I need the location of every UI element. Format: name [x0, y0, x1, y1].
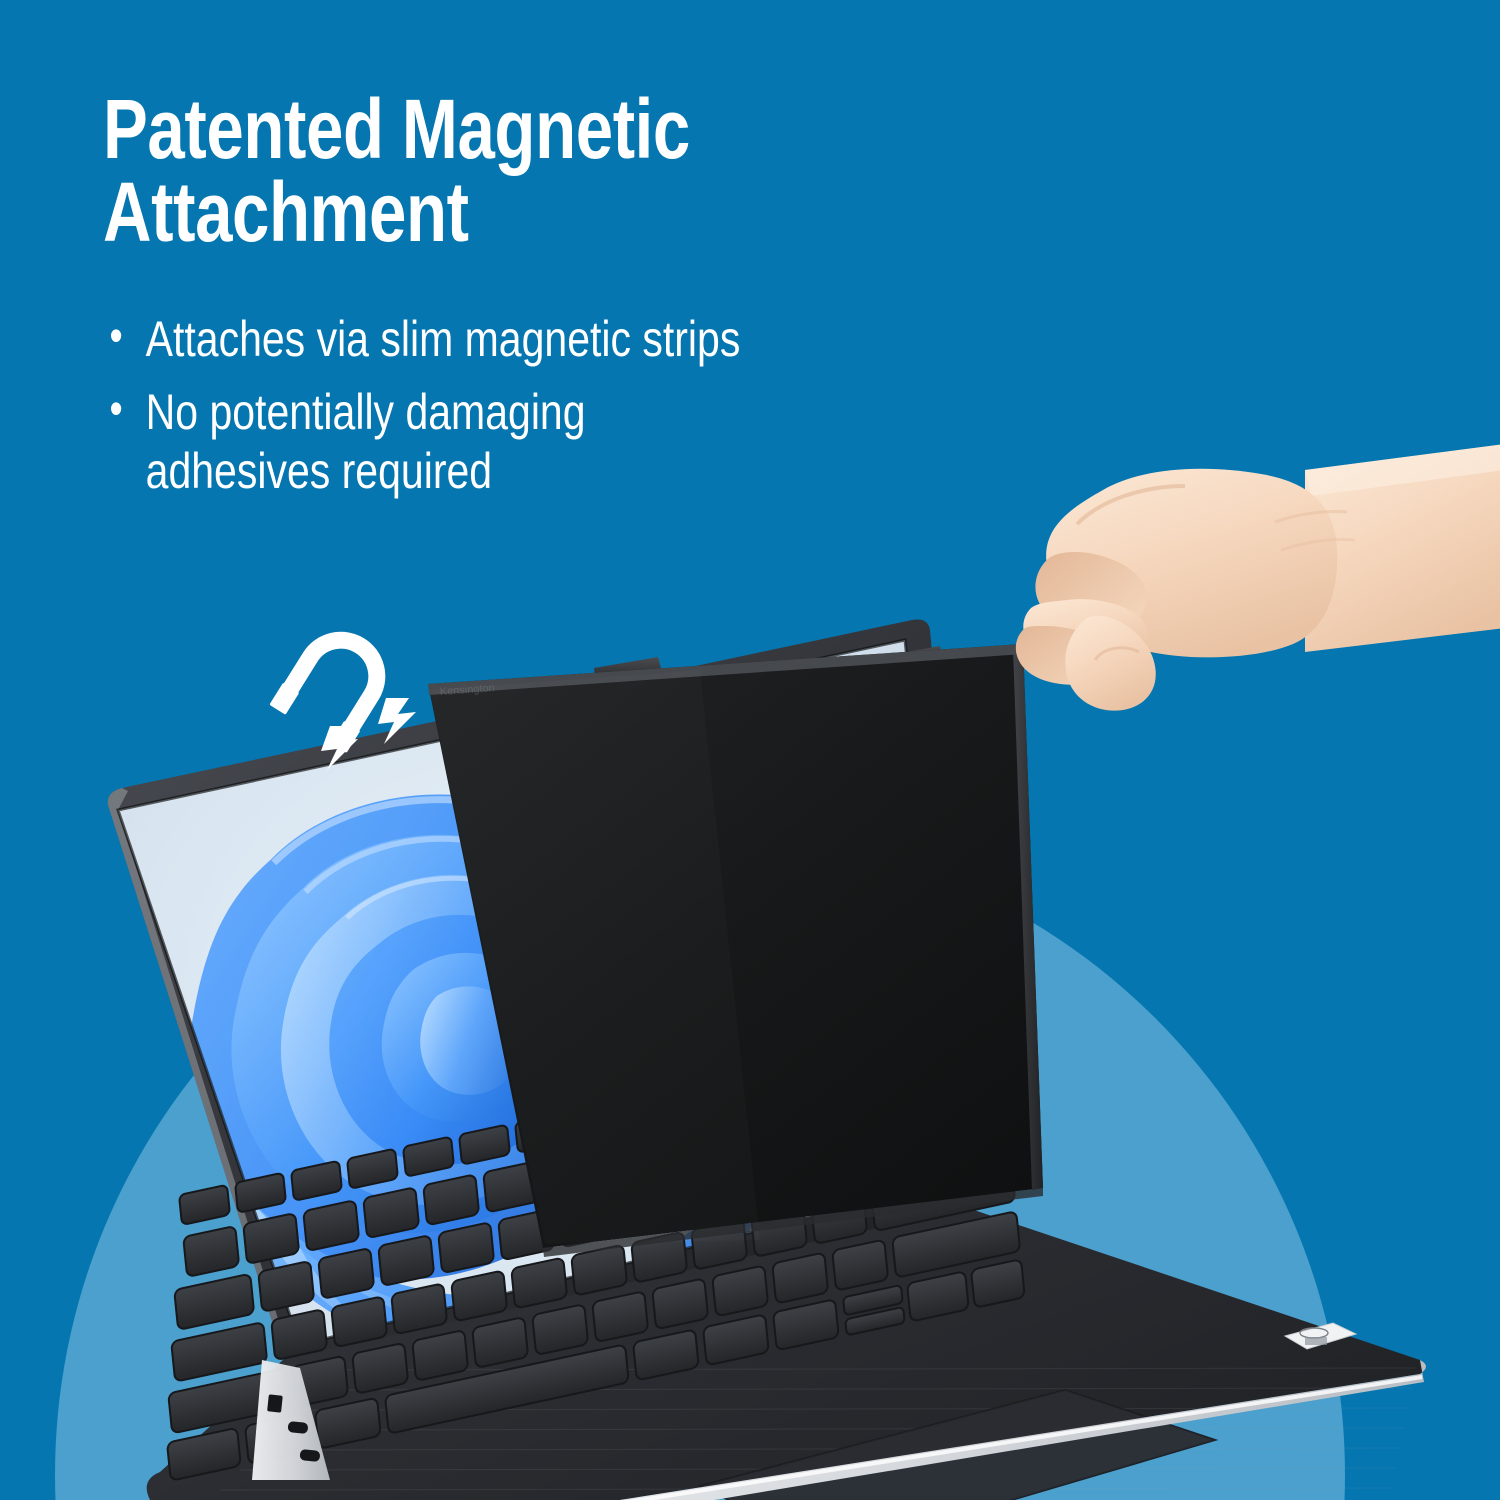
bullet-text: Attaches via slim magnetic strips [146, 310, 1114, 369]
filter-panel[interactable]: Kensington [428, 644, 1043, 1248]
bullet-marker: • [110, 381, 123, 435]
list-item: • No potentially damaging adhesives requ… [103, 383, 1113, 501]
feature-bullet-list: • Attaches via slim magnetic strips • No… [103, 310, 1103, 501]
bullet-text: No potentially damaging adhesives requir… [146, 383, 1114, 501]
bullet-marker: • [110, 308, 123, 362]
horseshoe-magnet-icon [268, 628, 443, 778]
copy-block: Patented Magnetic Attachment • Attaches … [103, 88, 1103, 515]
product-marketing-image: Kensington [0, 0, 1500, 1500]
fingers [1016, 552, 1156, 711]
lock-slot-port [267, 1394, 283, 1412]
list-item: • Attaches via slim magnetic strips [103, 310, 1113, 369]
lightning-bolt-icon-right [378, 698, 416, 744]
page-title: Patented Magnetic Attachment [103, 88, 1103, 254]
